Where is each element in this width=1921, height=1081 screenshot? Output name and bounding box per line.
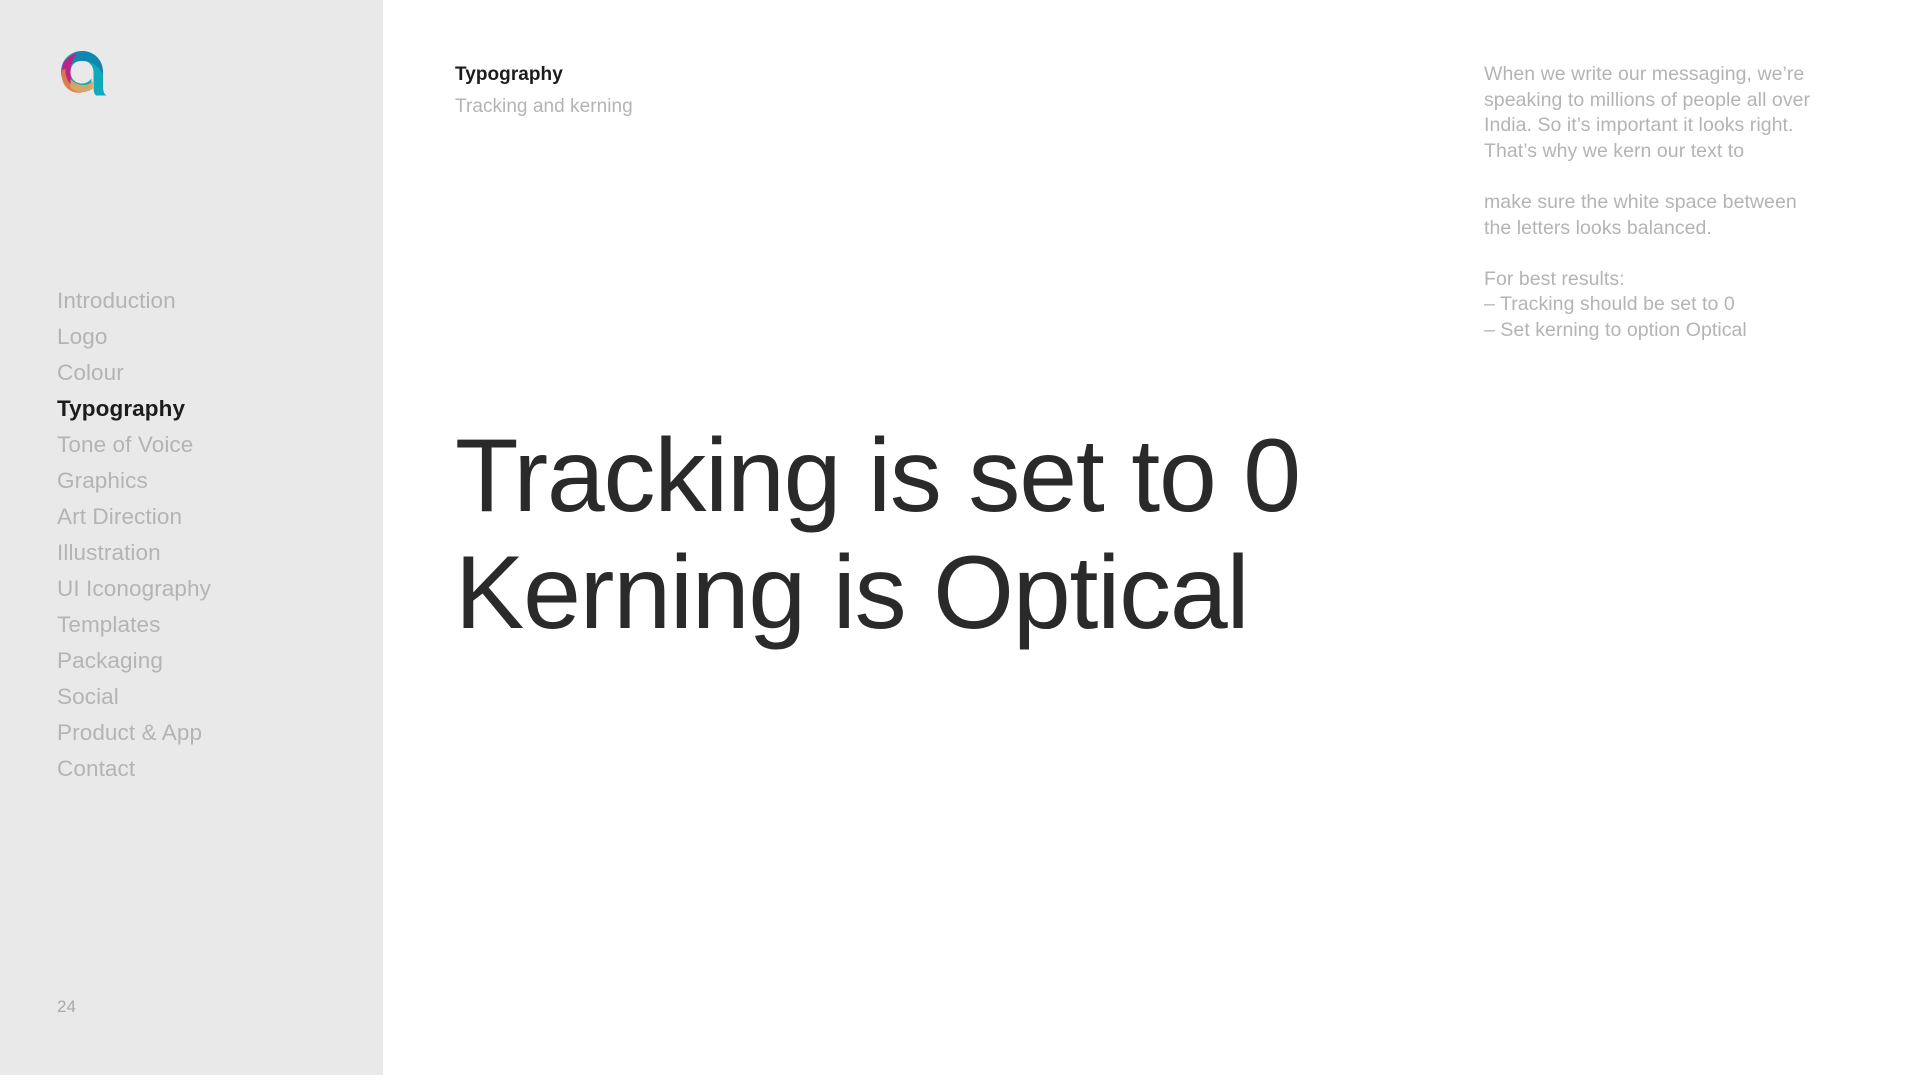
- note-line: When we write our messaging, we’re: [1484, 62, 1864, 88]
- sidebar-nav: Introduction Logo Colour Typography Tone…: [57, 283, 357, 787]
- sidebar-item-graphics[interactable]: Graphics: [57, 463, 357, 499]
- sidebar-item-art-direction[interactable]: Art Direction: [57, 499, 357, 535]
- side-notes: When we write our messaging, we’re speak…: [1484, 62, 1864, 344]
- note-line: India. So it’s important it looks right.: [1484, 113, 1864, 139]
- sidebar-item-illustration[interactable]: Illustration: [57, 535, 357, 571]
- sidebar-item-tone-of-voice[interactable]: Tone of Voice: [57, 427, 357, 463]
- slide-page: Introduction Logo Colour Typography Tone…: [0, 0, 1921, 1081]
- note-line: That’s why we kern our text to: [1484, 139, 1864, 165]
- sidebar: Introduction Logo Colour Typography Tone…: [0, 0, 383, 1075]
- brand-a-logomark-icon[interactable]: [56, 48, 108, 98]
- note-line: speaking to millions of people all over: [1484, 88, 1864, 114]
- type-specimen-line-2: Kerning is Optical: [455, 535, 1455, 652]
- sidebar-item-product-and-app[interactable]: Product & App: [57, 715, 357, 751]
- sidebar-item-typography[interactable]: Typography: [57, 391, 357, 427]
- page-number: 24: [57, 996, 76, 1018]
- note-block-intro: When we write our messaging, we’re speak…: [1484, 62, 1864, 164]
- sidebar-item-packaging[interactable]: Packaging: [57, 643, 357, 679]
- type-specimen: Tracking is set to 0 Kerning is Optical: [455, 418, 1455, 652]
- note-line-heading: For best results:: [1484, 267, 1864, 293]
- sidebar-item-introduction[interactable]: Introduction: [57, 283, 357, 319]
- page-header: Typography Tracking and kerning: [455, 62, 633, 120]
- sidebar-item-ui-iconography[interactable]: UI Iconography: [57, 571, 357, 607]
- type-specimen-line-1: Tracking is set to 0: [455, 418, 1455, 535]
- note-line-bullet-tracking: – Tracking should be set to 0: [1484, 292, 1864, 318]
- sidebar-item-templates[interactable]: Templates: [57, 607, 357, 643]
- sidebar-item-social[interactable]: Social: [57, 679, 357, 715]
- note-line: make sure the white space between: [1484, 190, 1864, 216]
- sidebar-item-colour[interactable]: Colour: [57, 355, 357, 391]
- page-title: Typography: [455, 62, 633, 88]
- note-line-bullet-kerning: – Set kerning to option Optical: [1484, 318, 1864, 344]
- sidebar-item-logo[interactable]: Logo: [57, 319, 357, 355]
- note-block-best-results: For best results: – Tracking should be s…: [1484, 267, 1864, 344]
- sidebar-item-contact[interactable]: Contact: [57, 751, 357, 787]
- page-subtitle: Tracking and kerning: [455, 94, 633, 120]
- note-line: the letters looks balanced.: [1484, 216, 1864, 242]
- note-block-continuation: make sure the white space between the le…: [1484, 190, 1864, 241]
